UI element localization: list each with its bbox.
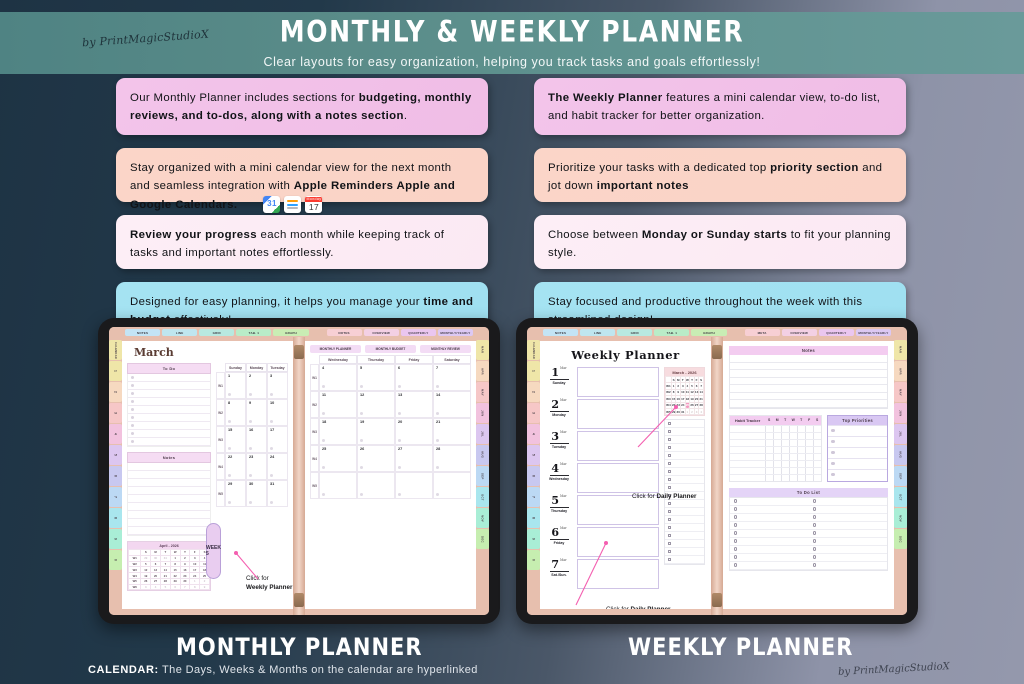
habit-dow: T <box>797 416 805 425</box>
feature-box-right-3: Choose between Monday or Sunday starts t… <box>534 215 906 269</box>
list-row[interactable] <box>128 503 210 511</box>
day-header[interactable]: Sunday <box>225 363 246 372</box>
todo-rows[interactable] <box>127 374 211 447</box>
note-line[interactable] <box>730 385 887 393</box>
day-cell[interactable]: 16 <box>246 426 267 453</box>
habit-row[interactable] <box>730 460 821 467</box>
monthly-month-tab-apr[interactable]: APR <box>476 361 489 381</box>
weekly-day-friday[interactable]: 6MarFriday <box>546 527 572 559</box>
weekly-month-tab-jul[interactable]: JUL <box>894 424 907 444</box>
notes-lines[interactable] <box>729 355 888 409</box>
monthly-sidebar-panels: To Do Notes April - 2026 SMTWTFSW1293031… <box>127 363 211 591</box>
priority-row[interactable] <box>828 458 887 469</box>
day-cell[interactable]: 21 <box>433 418 471 445</box>
day-name: Friday <box>554 541 565 545</box>
habit-row[interactable] <box>730 439 821 446</box>
weekly-tab-grid[interactable]: GRID <box>617 329 652 336</box>
notes-header: Notes <box>729 346 888 355</box>
todo-item[interactable] <box>730 562 809 570</box>
monthly-tab-graph[interactable]: GRAPH <box>273 329 308 336</box>
click-daily-hint-1: Click for Daily Planner <box>632 493 696 502</box>
weekly-month-tab-jun[interactable]: JUN <box>894 403 907 423</box>
day-cell[interactable]: 7 <box>433 364 471 391</box>
priorities-header: Top Priorities <box>828 416 887 425</box>
weekly-tab-tab-1[interactable]: TAB. 1 <box>654 329 689 336</box>
monthly-section-tabs[interactable]: MONTHLY PLANNERMONTHLY BUDGETMONTHLY REV… <box>305 341 476 355</box>
day-cell[interactable]: 27 <box>395 445 433 472</box>
monthly-tab-notes[interactable]: NOTES <box>327 329 362 336</box>
week-row: W4222324 <box>216 453 288 480</box>
todo-line[interactable] <box>665 476 704 484</box>
monthly-tab-monthly-yearly[interactable]: MONTHLY/YEARLY <box>438 329 473 336</box>
day-header[interactable]: Wednesday <box>319 355 357 364</box>
day-name: Tuesday <box>552 445 566 449</box>
weekly-tab-quarterly[interactable]: QUARTERLY <box>819 329 854 336</box>
todo-line[interactable] <box>665 484 704 492</box>
day-month: Mar <box>560 463 567 466</box>
list-row[interactable] <box>128 471 210 479</box>
priority-row[interactable] <box>828 425 887 436</box>
weekly-month-tab-dec[interactable]: DEC <box>894 529 907 549</box>
weekly-planner-label: WEEKLY PLANNER <box>628 633 853 661</box>
todo-line[interactable] <box>665 452 704 460</box>
list-row[interactable] <box>128 527 210 535</box>
day-name: Monday <box>552 413 566 417</box>
monthly-month-tab-dec[interactable]: DEC <box>476 529 489 549</box>
weekly-title: Weekly Planner <box>540 348 711 362</box>
weekly-month-tab-sep[interactable]: SEP <box>894 466 907 486</box>
week-label[interactable]: W5 <box>216 480 225 507</box>
weekly-side-tab-4[interactable]: 4 <box>527 424 540 444</box>
monthly-tab-grid[interactable]: GRID <box>199 329 234 336</box>
note-line[interactable] <box>730 393 887 401</box>
monthly-month-tab-aug[interactable]: AUG <box>476 445 489 465</box>
priority-row[interactable] <box>828 447 887 458</box>
day-number: 2Mar <box>551 399 566 410</box>
weekly-tab-graph[interactable]: GRAPH <box>691 329 726 336</box>
notebook-spine <box>293 337 305 615</box>
todo-list[interactable] <box>729 497 888 571</box>
todo-header: To Do <box>127 363 211 374</box>
monthly-planner-tablet[interactable]: CALENDAR1234567890 NOTESLINEGRIDTAB. 1GR… <box>98 318 500 624</box>
day-header[interactable]: Monday <box>246 363 267 372</box>
feature-text-part: Our Monthly Planner includes sections fo… <box>130 92 359 104</box>
day-cell[interactable]: 11 <box>319 391 357 418</box>
monthly-month-tab-nov[interactable]: NOV <box>476 508 489 528</box>
monthly-side-tab-4[interactable]: 4 <box>109 424 122 444</box>
todo-line[interactable] <box>665 548 704 556</box>
note-line[interactable] <box>730 363 887 371</box>
weekly-side-tab-7[interactable]: 7 <box>527 487 540 507</box>
weekly-month-tab-may[interactable]: MAY <box>894 382 907 402</box>
list-row[interactable] <box>128 398 210 406</box>
day-month: Mar <box>560 527 567 530</box>
weekly-screen: CALENDAR1234567890 NOTESLINEGRIDTAB. 1GR… <box>527 327 907 615</box>
note-line[interactable] <box>730 355 887 363</box>
day-cell[interactable]: 17 <box>267 426 288 453</box>
list-row[interactable] <box>128 430 210 438</box>
feature-text-part: priority section <box>770 162 859 174</box>
list-row[interactable] <box>128 422 210 430</box>
monthly-side-tab-9[interactable]: 9 <box>109 529 122 549</box>
list-row[interactable] <box>128 519 210 527</box>
day-entry-box[interactable] <box>577 463 659 493</box>
week-row: W211121314 <box>310 391 471 418</box>
hint-bold: Weekly Planner <box>246 584 292 591</box>
list-row[interactable] <box>128 463 210 471</box>
monthly-side-tab-8[interactable]: 8 <box>109 508 122 528</box>
hint-bold: Daily Planner <box>631 606 671 609</box>
click-daily-hint-2: Click for Daily Planner <box>606 606 670 609</box>
weekly-day-monday[interactable]: 2MarMonday <box>546 399 572 431</box>
month-grid-right[interactable]: WednesdayThursdayFridaySaturday W14567W2… <box>305 355 476 499</box>
divider <box>550 443 569 444</box>
week5-tab[interactable]: WEEK 5 <box>206 523 221 579</box>
weekly-month-tab-aug[interactable]: AUG <box>894 445 907 465</box>
day-name: Thursday <box>551 509 567 513</box>
monthly-tab-line[interactable]: LINE <box>162 329 197 336</box>
day-cell[interactable]: 5 <box>357 364 395 391</box>
weekly-side-tabs[interactable]: CALENDAR1234567890 <box>527 327 540 615</box>
habit-row[interactable] <box>730 425 821 432</box>
todo-line[interactable] <box>665 508 704 516</box>
monthly-side-tab-calendar[interactable]: CALENDAR <box>109 340 122 360</box>
note-line[interactable] <box>730 378 887 386</box>
calendar-hyperlink-note: CALENDAR: The Days, Weeks & Months on th… <box>88 664 478 676</box>
day-cell[interactable] <box>319 472 357 499</box>
day-number: 6Mar <box>551 527 566 538</box>
day-cell[interactable]: 18 <box>319 418 357 445</box>
weekly-month-tab-oct[interactable]: OCT <box>894 487 907 507</box>
apple-reminders-icon[interactable] <box>284 196 301 213</box>
day-month: Mar <box>560 495 567 498</box>
weekly-side-tab-5[interactable]: 5 <box>527 445 540 465</box>
feature-text-part: Monday or Sunday starts <box>642 229 787 241</box>
day-cell[interactable] <box>395 472 433 499</box>
week-label[interactable]: W3 <box>310 418 319 445</box>
list-row[interactable] <box>128 487 210 495</box>
mini-day-cell[interactable]: 4 <box>699 408 704 414</box>
monthly-tab-notes[interactable]: NOTES <box>125 329 160 336</box>
feature-text-part: Designed for easy planning, it helps you… <box>130 296 423 308</box>
monthly-month-tab-jul[interactable]: JUL <box>476 424 489 444</box>
todo-item[interactable] <box>730 514 809 522</box>
week-label[interactable]: W3 <box>216 426 225 453</box>
habit-row[interactable] <box>730 432 821 439</box>
monthly-side-tab-6[interactable]: 6 <box>109 466 122 486</box>
feature-text-part: Choose between <box>548 229 642 241</box>
weekly-side-tab-calendar[interactable]: CALENDAR <box>527 340 540 360</box>
weekly-month-tabs[interactable]: MARAPRMAYJUNJULAUGSEPOCTNOVDEC <box>894 327 907 615</box>
todo-item[interactable] <box>730 522 809 530</box>
weekly-right-page: Notes Habit TrackerSMTWTFS Top Prioritie… <box>723 341 894 609</box>
weekly-right-column: March - 2026 SMTWTFSW11234567W2891011121… <box>664 367 705 591</box>
day-cell[interactable]: 22 <box>225 453 246 480</box>
weekly-tab-meta[interactable]: META <box>745 329 780 336</box>
day-number: 3Mar <box>551 431 566 442</box>
day-cell[interactable]: 30 <box>246 480 267 507</box>
todo-line[interactable] <box>665 460 704 468</box>
monthly-month-tab-mar[interactable]: MAR <box>476 340 489 360</box>
monthly-side-tab-2[interactable]: 2 <box>109 382 122 402</box>
mini-day-cell[interactable]: 7 <box>180 584 190 590</box>
day-cell[interactable]: 10 <box>267 399 288 426</box>
mini-calendar-title: April - 2026 <box>128 542 210 549</box>
week-row: W28910 <box>216 399 288 426</box>
weekly-tab-line[interactable]: LINE <box>580 329 615 336</box>
monthly-month-tab-oct[interactable]: OCT <box>476 487 489 507</box>
list-row[interactable] <box>128 406 210 414</box>
todo-item[interactable] <box>730 498 809 506</box>
grid-corner <box>310 355 319 364</box>
day-headers-right: WednesdayThursdayFridaySaturday <box>310 355 471 364</box>
list-row[interactable] <box>128 438 210 446</box>
todo-item[interactable] <box>809 538 888 546</box>
google-calendar-icon[interactable]: 31 <box>263 196 280 213</box>
list-row[interactable] <box>128 382 210 390</box>
day-entry-box[interactable] <box>577 367 659 397</box>
day-header[interactable]: Thursday <box>357 355 395 364</box>
day-cell[interactable]: 8 <box>225 399 246 426</box>
mini-week-row[interactable]: W63456789 <box>129 584 210 590</box>
list-row[interactable] <box>128 479 210 487</box>
priority-row[interactable] <box>828 436 887 447</box>
mini-day-cell[interactable]: 8 <box>190 584 200 590</box>
day-cell[interactable]: 13 <box>395 391 433 418</box>
monthly-side-tabs[interactable]: CALENDAR1234567890 <box>109 327 122 615</box>
monthly-side-tab-1[interactable]: 1 <box>109 361 122 381</box>
day-cell[interactable] <box>357 472 395 499</box>
week-row: W425262728 <box>310 445 471 472</box>
day-cell[interactable]: 31 <box>267 480 288 507</box>
section-tab-monthly-budget[interactable]: MONTHLY BUDGET <box>365 345 416 353</box>
weekly-day-sunday[interactable]: 1MarSunday <box>546 367 572 399</box>
todo-line[interactable] <box>665 532 704 540</box>
notes-header: Notes <box>127 452 211 463</box>
day-cell[interactable]: 14 <box>433 391 471 418</box>
section-tab-monthly-review[interactable]: MONTHLY REVIEW <box>420 345 471 353</box>
weekly-tab-monthly-yearly[interactable]: MONTHLY/YEARLY <box>856 329 891 336</box>
todo-item[interactable] <box>809 554 888 562</box>
habit-row[interactable] <box>730 467 821 474</box>
todo-line[interactable] <box>665 516 704 524</box>
monthly-side-tab-3[interactable]: 3 <box>109 403 122 423</box>
todo-line[interactable] <box>665 540 704 548</box>
habit-dow: M <box>773 416 781 425</box>
weekly-side-tab-9[interactable]: 9 <box>527 529 540 549</box>
day-month: Mar <box>560 399 567 402</box>
week-label[interactable]: W2 <box>216 399 225 426</box>
day-number: 7Mar <box>551 559 566 570</box>
weekly-side-tab-6[interactable]: 6 <box>527 466 540 486</box>
day-cell[interactable]: 25 <box>319 445 357 472</box>
todo-item[interactable] <box>730 554 809 562</box>
todo-item[interactable] <box>809 514 888 522</box>
day-number: 1Mar <box>551 367 566 378</box>
day-cell[interactable]: 1 <box>225 372 246 399</box>
weekly-top-tabs[interactable]: NOTESLINEGRIDTAB. 1GRAPHMETAOVERVIEWQUAR… <box>540 327 894 337</box>
day-cell[interactable]: 29 <box>225 480 246 507</box>
weekly-month-tab-apr[interactable]: APR <box>894 361 907 381</box>
week-label[interactable]: W5 <box>310 472 319 499</box>
divider <box>550 475 569 476</box>
weekly-side-tab-3[interactable]: 3 <box>527 403 540 423</box>
note-text: The Days, Weeks & Months on the calendar… <box>159 664 478 676</box>
weekly-day-sat-sun-[interactable]: 7MarSat./Sun. <box>546 559 572 591</box>
day-cell[interactable]: 9 <box>246 399 267 426</box>
week-label[interactable]: W1 <box>216 372 225 399</box>
monthly-right-page: MONTHLY PLANNERMONTHLY BUDGETMONTHLY REV… <box>305 341 476 609</box>
weekly-side-tab-0[interactable]: 0 <box>527 550 540 570</box>
weekly-day-column[interactable]: 1MarSunday2MarMonday3MarTuesday4MarWedne… <box>546 367 572 591</box>
todo-item[interactable] <box>809 522 888 530</box>
footer-brand: by PrintMagicStudioX <box>838 661 950 678</box>
priority-row[interactable] <box>828 469 887 480</box>
monthly-screen: CALENDAR1234567890 NOTESLINEGRIDTAB. 1GR… <box>109 327 489 615</box>
weekly-planner-tablet[interactable]: CALENDAR1234567890 NOTESLINEGRIDTAB. 1GR… <box>516 318 918 624</box>
mini-day-cell[interactable]: 6 <box>170 584 180 590</box>
todo-item[interactable] <box>730 546 809 554</box>
todo-item[interactable] <box>809 562 888 570</box>
day-cell[interactable]: 26 <box>357 445 395 472</box>
weekly-month-tab-nov[interactable]: NOV <box>894 508 907 528</box>
todo-item[interactable] <box>730 538 809 546</box>
day-cell[interactable]: 23 <box>246 453 267 480</box>
feature-box-left-2: Stay organized with a mini calendar view… <box>116 148 488 202</box>
weekly-side-tab-1[interactable]: 1 <box>527 361 540 381</box>
monthly-side-tab-5[interactable]: 5 <box>109 445 122 465</box>
apple-calendar-icon[interactable]: Monday17 <box>305 196 322 213</box>
list-row[interactable] <box>128 390 210 398</box>
day-header[interactable]: Saturday <box>433 355 471 364</box>
week-label[interactable]: W4 <box>310 445 319 472</box>
day-header[interactable]: Friday <box>395 355 433 364</box>
monthly-tab-overview[interactable]: OVERVIEW <box>364 329 399 336</box>
arrow-weekly <box>232 549 262 583</box>
day-month: Mar <box>560 431 567 434</box>
day-cell[interactable]: 4 <box>319 364 357 391</box>
todo-item[interactable] <box>730 506 809 514</box>
todo-item[interactable] <box>809 506 888 514</box>
mini-day-cell[interactable]: 9 <box>200 584 210 590</box>
monthly-tab-quarterly[interactable]: QUARTERLY <box>401 329 436 336</box>
list-row[interactable] <box>128 374 210 382</box>
mini-week-label[interactable]: W6 <box>129 584 141 590</box>
day-cell[interactable]: 2 <box>246 372 267 399</box>
note-label: CALENDAR: <box>88 664 159 676</box>
todo-line[interactable] <box>665 524 704 532</box>
day-cell[interactable]: 20 <box>395 418 433 445</box>
weekly-tab-notes[interactable]: NOTES <box>543 329 578 336</box>
feature-box-right-2: Prioritize your tasks with a dedicated t… <box>534 148 906 202</box>
day-cell[interactable]: 12 <box>357 391 395 418</box>
monthly-month-tabs[interactable]: MARAPRMAYJUNJULAUGSEPOCTNOVDEC <box>476 327 489 615</box>
divider <box>550 379 569 380</box>
monthly-side-tab-0[interactable]: 0 <box>109 550 122 570</box>
habit-row[interactable] <box>730 453 821 460</box>
todo-item[interactable] <box>809 546 888 554</box>
week-row: W5293031 <box>216 480 288 507</box>
day-cell[interactable]: 24 <box>267 453 288 480</box>
habit-tracker[interactable]: Habit TrackerSMTWTFS <box>729 415 822 482</box>
monthly-month-tab-sep[interactable]: SEP <box>476 466 489 486</box>
week-row: W318192021 <box>310 418 471 445</box>
feature-column-right: The Weekly Planner features a mini calen… <box>534 78 906 349</box>
monthly-top-tabs[interactable]: NOTESLINEGRIDTAB. 1GRAPHNOTESOVERVIEWQUA… <box>122 327 476 337</box>
monthly-tab-tab-1[interactable]: TAB. 1 <box>236 329 271 336</box>
week-label[interactable]: W4 <box>216 453 225 480</box>
todo-item[interactable] <box>730 530 809 538</box>
day-number: 5Mar <box>551 495 566 506</box>
list-row[interactable] <box>128 414 210 422</box>
day-cell[interactable]: 28 <box>433 445 471 472</box>
week-label[interactable]: W2 <box>310 391 319 418</box>
day-header[interactable]: Tuesday <box>267 363 288 372</box>
top-priorities[interactable]: Top Priorities <box>827 415 888 482</box>
divider <box>550 411 569 412</box>
monthly-month-tab-may[interactable]: MAY <box>476 382 489 402</box>
monthly-left-page: March To Do Notes April - 2026 SMTWTFSW1… <box>122 341 293 609</box>
day-name: Sunday <box>553 381 566 385</box>
habit-row[interactable] <box>730 446 821 453</box>
day-cell[interactable]: 19 <box>357 418 395 445</box>
weekly-side-tab-2[interactable]: 2 <box>527 382 540 402</box>
mini-day-cell[interactable]: 4 <box>151 584 161 590</box>
note-line[interactable] <box>730 400 887 408</box>
tab-gap <box>311 329 325 336</box>
day-name: Sat./Sun. <box>551 573 566 577</box>
divider <box>550 539 569 540</box>
feature-section: Our Monthly Planner includes sections fo… <box>0 78 1024 313</box>
day-headers: SundayMondayTuesday <box>216 363 288 372</box>
notes-rows[interactable] <box>127 463 211 536</box>
list-row[interactable] <box>128 495 210 503</box>
todo-line[interactable] <box>665 468 704 476</box>
note-line[interactable] <box>730 370 887 378</box>
app-icon-group[interactable]: 31Monday17 <box>263 196 322 213</box>
weekly-month-tab-mar[interactable]: MAR <box>894 340 907 360</box>
week-label[interactable]: W1 <box>310 364 319 391</box>
weekly-day-wednesday[interactable]: 4MarWednesday <box>546 463 572 495</box>
weekly-day-thursday[interactable]: 5MarThursday <box>546 495 572 527</box>
day-cell[interactable]: 6 <box>395 364 433 391</box>
weekly-side-tab-8[interactable]: 8 <box>527 508 540 528</box>
monthly-month-tab-jun[interactable]: JUN <box>476 403 489 423</box>
day-cell[interactable] <box>433 472 471 499</box>
day-cell[interactable]: 3 <box>267 372 288 399</box>
habit-dow: W <box>789 416 797 425</box>
mini-day-cell[interactable]: 5 <box>160 584 170 590</box>
section-tab-monthly-planner[interactable]: MONTHLY PLANNER <box>310 345 361 353</box>
feature-text-part: . <box>404 110 408 122</box>
mini-day-cell[interactable]: 3 <box>141 584 151 590</box>
day-cell[interactable]: 15 <box>225 426 246 453</box>
arrow-daily-2 <box>572 541 610 609</box>
list-row[interactable] <box>128 511 210 519</box>
habit-header: Habit Tracker <box>730 416 765 425</box>
divider <box>550 507 569 508</box>
todo-item[interactable] <box>809 498 888 506</box>
mini-calendar-april[interactable]: April - 2026 SMTWTFSW12930311234W2567891… <box>127 541 211 591</box>
feature-box-left-3: Review your progress each month while ke… <box>116 215 488 269</box>
weekly-tab-overview[interactable]: OVERVIEW <box>782 329 817 336</box>
todo-item[interactable] <box>809 530 888 538</box>
monthly-side-tab-7[interactable]: 7 <box>109 487 122 507</box>
weekly-day-tuesday[interactable]: 3MarTuesday <box>546 431 572 463</box>
feature-box-right-1: The Weekly Planner features a mini calen… <box>534 78 906 135</box>
habit-row[interactable] <box>730 474 821 481</box>
todo-line[interactable] <box>665 556 704 564</box>
